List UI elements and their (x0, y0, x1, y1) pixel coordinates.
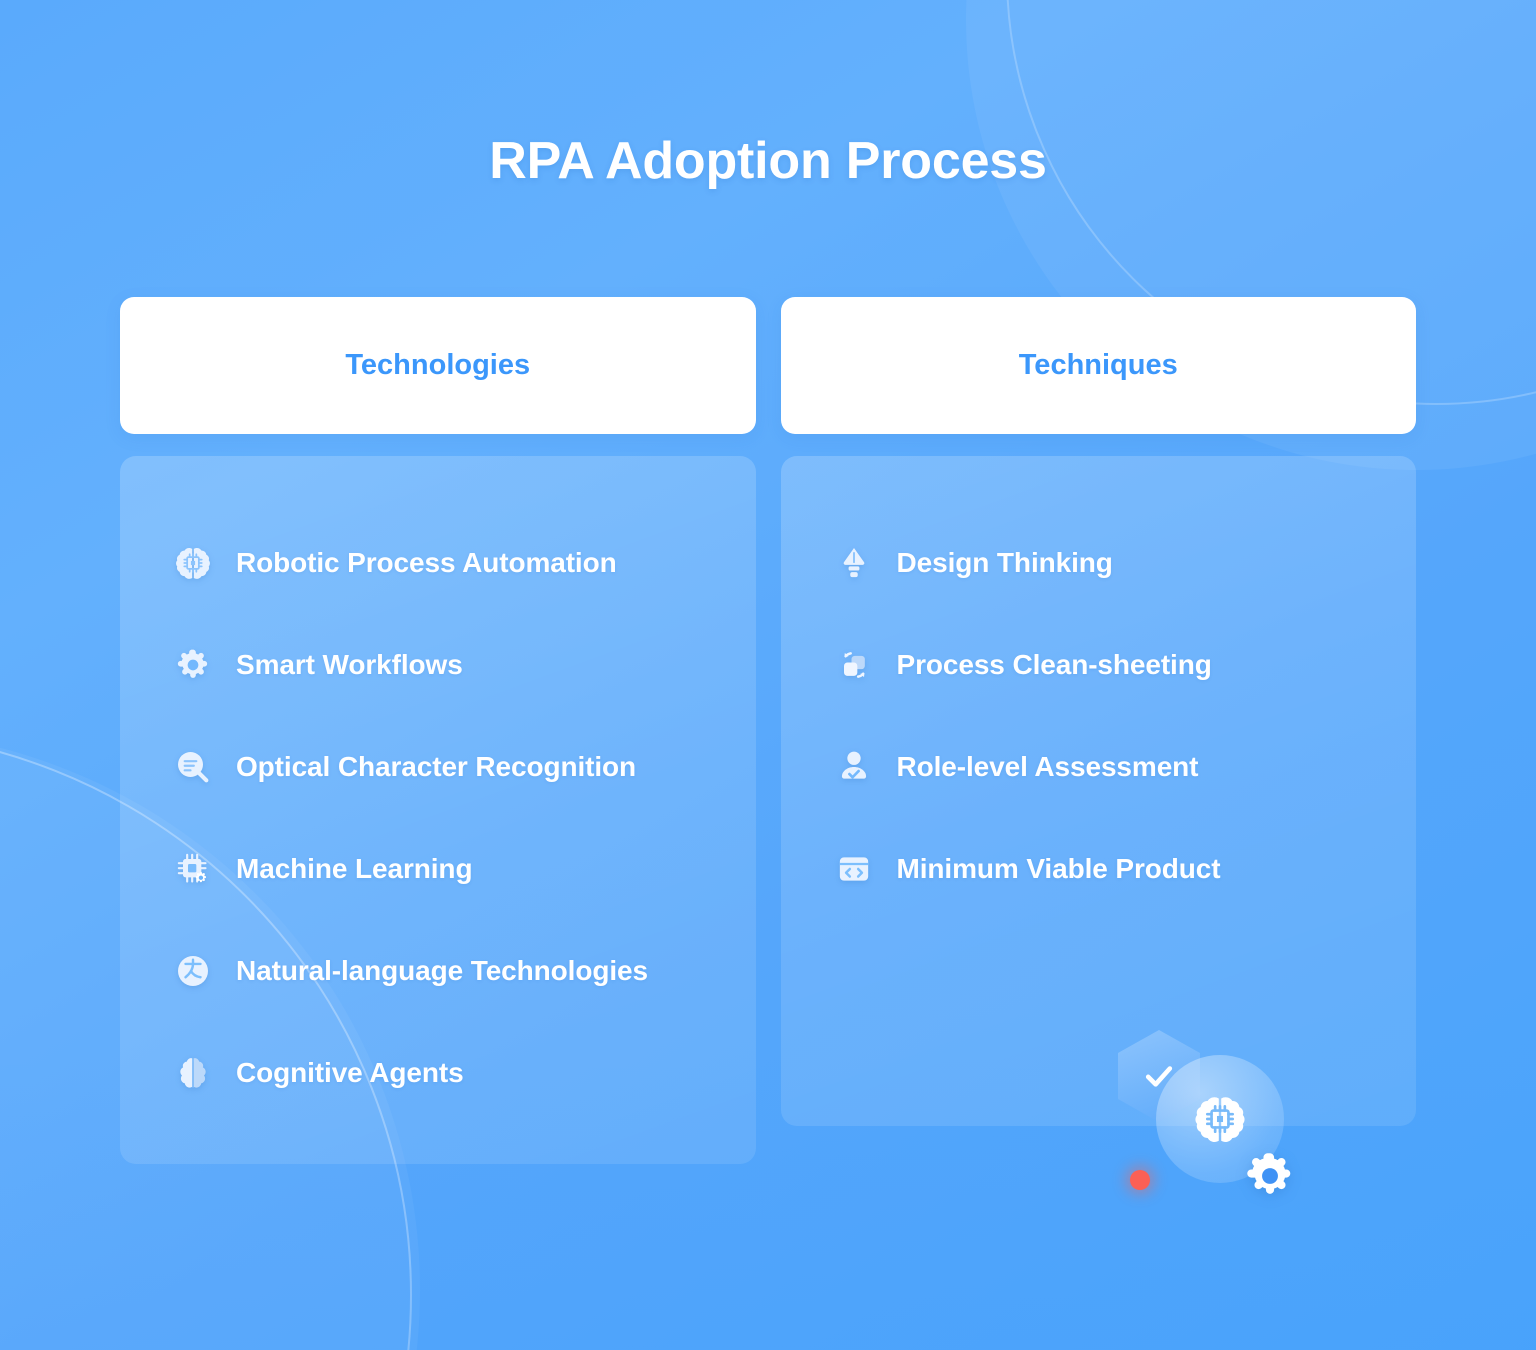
text-scan-magnifier-icon (172, 746, 214, 788)
chip-gear-icon (172, 848, 214, 890)
list-item-label: Optical Character Recognition (236, 751, 636, 783)
list-item[interactable]: Process Clean-sheeting (781, 614, 1417, 716)
list-item-label: Design Thinking (897, 547, 1113, 579)
list-item-label: Robotic Process Automation (236, 547, 617, 579)
page-title: RPA Adoption Process (0, 131, 1536, 191)
code-window-icon (833, 848, 875, 890)
list-item[interactable]: Smart Workflows (120, 614, 756, 716)
list-item-label: Smart Workflows (236, 649, 463, 681)
list-item[interactable]: Cognitive Agents (120, 1022, 756, 1124)
ai-brain-icon (1191, 1090, 1249, 1148)
ai-brain-icon (172, 542, 214, 584)
list-item[interactable]: Robotic Process Automation (120, 512, 756, 614)
translate-icon (172, 950, 214, 992)
list-panel-technologies: Robotic Process Automation Smart Workflo… (120, 456, 756, 1164)
list-item-label: Role-level Assessment (897, 751, 1199, 783)
list-item-label: Natural-language Technologies (236, 955, 648, 987)
column-technologies: Technologies (120, 297, 756, 1164)
list-item[interactable]: Optical Character Recognition (120, 716, 756, 818)
slide-root: RPA Adoption Process Technologies (0, 0, 1536, 1350)
tab-techniques-label: Techniques (1019, 349, 1178, 382)
list-item[interactable]: Role-level Assessment (781, 716, 1417, 818)
user-check-icon (833, 746, 875, 788)
list-item-label: Minimum Viable Product (897, 853, 1221, 885)
list-item[interactable]: Minimum Viable Product (781, 818, 1417, 920)
status-dot (1130, 1170, 1150, 1190)
decorative-icon-cluster (1108, 1020, 1318, 1220)
list-item-label: Process Clean-sheeting (897, 649, 1212, 681)
gear-icon (172, 644, 214, 686)
refresh-squares-icon (833, 644, 875, 686)
list-item[interactable]: Natural-language Technologies (120, 920, 756, 1022)
gear-icon (1242, 1148, 1298, 1204)
list-item-label: Machine Learning (236, 853, 472, 885)
tab-technologies[interactable]: Technologies (120, 297, 756, 434)
list-item-label: Cognitive Agents (236, 1057, 464, 1089)
list-item[interactable]: Design Thinking (781, 512, 1417, 614)
list-item[interactable]: Machine Learning (120, 818, 756, 920)
tab-technologies-label: Technologies (345, 349, 530, 382)
list-panel-techniques: Design Thinking Process Clean-she (781, 456, 1417, 1126)
column-techniques: Techniques Design Thinking (781, 297, 1417, 1164)
pen-nib-icon (833, 542, 875, 584)
tab-techniques[interactable]: Techniques (781, 297, 1417, 434)
brain-icon (172, 1052, 214, 1094)
